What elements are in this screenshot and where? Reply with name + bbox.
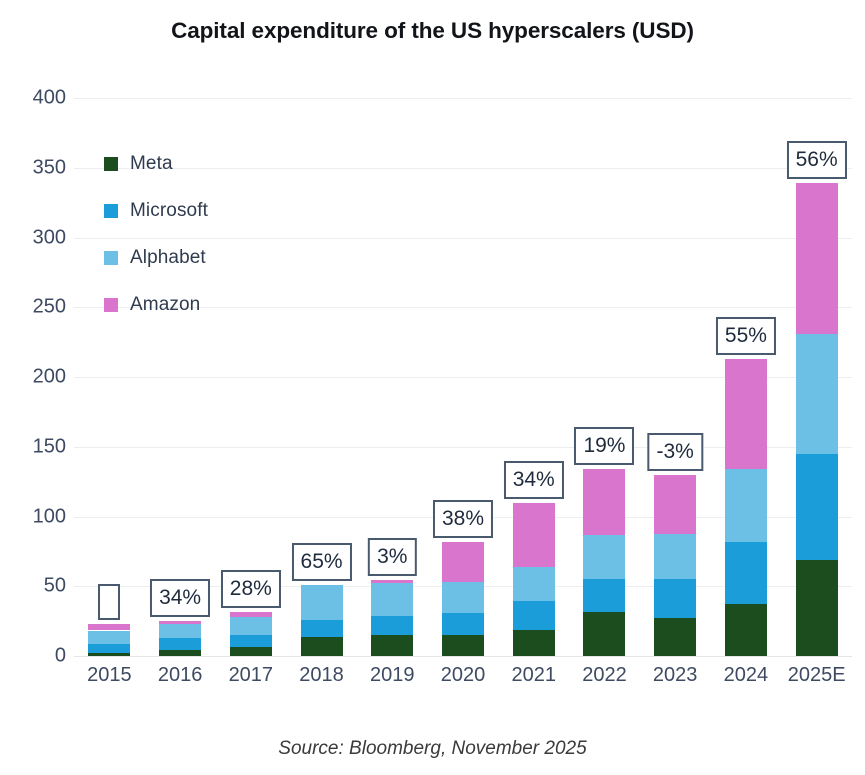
y-axis-tick-label: 300	[4, 226, 66, 249]
chart-page: Capital expenditure of the US hyperscale…	[0, 0, 865, 775]
x-axis-tick-label: 2015	[87, 664, 132, 687]
bar-data-label: 55%	[716, 317, 776, 355]
bar-segment-msft[interactable]	[442, 613, 484, 634]
y-axis-tick-label: 0	[4, 645, 66, 668]
x-axis-tick-label: 2017	[229, 664, 274, 687]
x-axis-tick-label: 2020	[441, 664, 486, 687]
bar-data-label: -3%	[647, 433, 702, 471]
x-axis-tick-label: 2025E	[788, 664, 846, 687]
page-title: Capital expenditure of the US hyperscale…	[0, 18, 865, 44]
bar-segment-msft[interactable]	[654, 579, 696, 618]
bar-segment-meta[interactable]	[159, 650, 201, 656]
bar-segment-meta[interactable]	[301, 637, 343, 656]
y-axis-tick-label: 50	[4, 575, 66, 598]
bar-segment-msft[interactable]	[583, 579, 625, 612]
x-axis-tick-label: 2016	[158, 664, 203, 687]
legend-item-label: Meta	[130, 153, 173, 175]
x-axis-tick-label: 2024	[724, 664, 769, 687]
x-axis-tick-label: 2023	[653, 664, 698, 687]
x-axis-tick-label: 2018	[299, 664, 344, 687]
legend-item-microsoft[interactable]: Microsoft	[104, 187, 304, 234]
bar-segment-amzn[interactable]	[583, 469, 625, 535]
y-axis-tick-label: 200	[4, 366, 66, 389]
bar-segment-amzn[interactable]	[725, 359, 767, 469]
bar-segment-alpha[interactable]	[654, 534, 696, 579]
bar-segment-msft[interactable]	[725, 542, 767, 604]
bar-segment-msft[interactable]	[513, 601, 555, 630]
x-axis-tick-label: 2021	[511, 664, 556, 687]
bar-segment-meta[interactable]	[513, 630, 555, 656]
y-axis-tick-label: 350	[4, 156, 66, 179]
bar-stack[interactable]	[513, 98, 555, 656]
bar-segment-alpha[interactable]	[371, 583, 413, 616]
bar-data-label: 19%	[574, 427, 634, 465]
x-axis-tick-label: 2019	[370, 664, 415, 687]
bar-stack[interactable]	[442, 98, 484, 656]
bar-segment-amzn[interactable]	[371, 580, 413, 583]
bar-segment-alpha[interactable]	[301, 585, 343, 620]
bar-data-label: 56%	[787, 141, 847, 179]
y-axis-tick-label: 250	[4, 296, 66, 319]
legend-item-amazon[interactable]: Amazon	[104, 281, 304, 328]
bar-segment-meta[interactable]	[725, 604, 767, 656]
bar-segment-meta[interactable]	[371, 635, 413, 656]
bar-segment-amzn[interactable]	[442, 542, 484, 582]
bar-segment-msft[interactable]	[301, 620, 343, 636]
bar-segment-amzn[interactable]	[159, 621, 201, 624]
legend-swatch-icon	[104, 204, 118, 218]
bar-segment-amzn[interactable]	[88, 624, 130, 630]
y-axis: 050100150200250300350400	[0, 98, 66, 656]
bar-segment-alpha[interactable]	[442, 582, 484, 613]
legend-swatch-icon	[104, 251, 118, 265]
bar-segment-meta[interactable]	[654, 618, 696, 656]
legend-swatch-icon	[104, 157, 118, 171]
bar-segment-msft[interactable]	[371, 616, 413, 635]
bar-segment-alpha[interactable]	[583, 535, 625, 579]
x-axis: 2015201620172018201920202021202220232024…	[74, 664, 852, 696]
bar-segment-meta[interactable]	[442, 635, 484, 656]
legend-item-label: Amazon	[130, 294, 200, 316]
bar-segment-meta[interactable]	[796, 560, 838, 656]
bar-segment-msft[interactable]	[88, 644, 130, 652]
bar-data-label: 28%	[221, 570, 281, 608]
legend-item-meta[interactable]: Meta	[104, 140, 304, 187]
x-axis-tick-label: 2022	[582, 664, 627, 687]
legend-item-alphabet[interactable]: Alphabet	[104, 234, 304, 281]
legend-item-label: Microsoft	[130, 200, 208, 222]
bar-segment-amzn[interactable]	[796, 183, 838, 334]
bar-stack[interactable]	[725, 98, 767, 656]
bar-segment-alpha[interactable]	[725, 469, 767, 542]
bar-segment-alpha[interactable]	[796, 334, 838, 454]
gridline-0	[74, 656, 852, 657]
legend-item-label: Alphabet	[130, 247, 206, 269]
bar-data-label: 34%	[504, 461, 564, 499]
bar-segment-msft[interactable]	[230, 635, 272, 646]
bar-data-label: 3%	[368, 538, 416, 576]
bar-data-label: 65%	[292, 543, 352, 581]
bar-data-label	[98, 584, 120, 620]
bar-segment-meta[interactable]	[583, 612, 625, 656]
bar-segment-alpha[interactable]	[513, 567, 555, 601]
bar-segment-meta[interactable]	[88, 653, 130, 656]
bar-stack[interactable]	[654, 98, 696, 656]
y-axis-tick-label: 100	[4, 505, 66, 528]
bar-segment-msft[interactable]	[159, 638, 201, 649]
y-axis-tick-label: 150	[4, 435, 66, 458]
bar-segment-amzn[interactable]	[513, 503, 555, 567]
bar-stack[interactable]	[583, 98, 625, 656]
bar-segment-alpha[interactable]	[88, 631, 130, 645]
bar-segment-alpha[interactable]	[230, 617, 272, 635]
legend: MetaMicrosoftAlphabetAmazon	[104, 140, 304, 328]
bar-segment-alpha[interactable]	[159, 624, 201, 638]
bar-segment-amzn[interactable]	[654, 475, 696, 534]
bar-stack[interactable]	[796, 98, 838, 656]
bar-data-label: 34%	[150, 579, 210, 617]
source-note: Source: Bloomberg, November 2025	[0, 738, 865, 760]
bar-data-label: 38%	[433, 500, 493, 538]
y-axis-tick-label: 400	[4, 87, 66, 110]
bar-segment-meta[interactable]	[230, 647, 272, 656]
bar-segment-amzn[interactable]	[230, 612, 272, 617]
legend-swatch-icon	[104, 298, 118, 312]
bar-segment-msft[interactable]	[796, 454, 838, 560]
